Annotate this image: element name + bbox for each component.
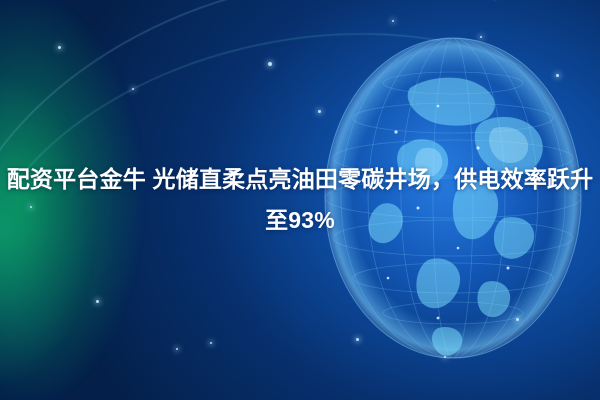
- particle: [392, 20, 394, 22]
- particle: [30, 206, 32, 208]
- particle: [176, 348, 178, 350]
- particle: [268, 62, 272, 66]
- banner-image: 配资平台金牛 光储直柔点亮油田零碳井场，供电效率跃升至93%: [0, 0, 600, 400]
- particle: [58, 46, 61, 49]
- particle: [356, 338, 359, 341]
- particle: [556, 74, 559, 77]
- particle: [480, 36, 482, 38]
- globe: [318, 22, 596, 378]
- particle: [318, 110, 321, 113]
- particle: [444, 356, 446, 358]
- globe-svg: [318, 28, 588, 368]
- particle: [132, 88, 134, 90]
- particle: [516, 318, 519, 321]
- particle: [96, 300, 99, 303]
- particle: [210, 342, 212, 344]
